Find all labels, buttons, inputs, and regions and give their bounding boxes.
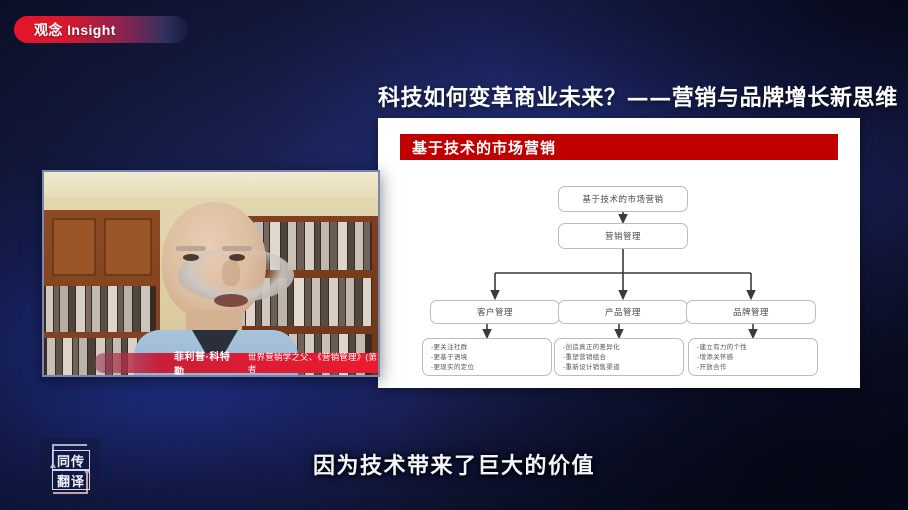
speaker-brow-right (222, 246, 252, 251)
flowchart: 基于技术的市场营销 营销管理 客户管理 产品管理 品牌管理 -更关注社群 -更基… (378, 118, 860, 388)
bullet: -开放合作 (697, 363, 817, 373)
speaker-brow-left (176, 246, 206, 251)
presentation-slide: 基于技术的市场营销 (378, 118, 860, 388)
flow-detail-customer: -更关注社群 -更基于语境 -更现实的定位 (422, 338, 552, 376)
speaker-subtitle: 世界营销学之父、《营销管理》(第16版) 作者 (240, 351, 380, 375)
flow-detail-product: -创造真正的差异化 -重塑营销组合 -重新设计销售渠道 (554, 338, 684, 376)
speaker-mouth (214, 294, 248, 307)
bullet: -更现实的定位 (431, 363, 551, 373)
flow-node-customer: 客户管理 (430, 300, 560, 324)
bullet: -更基于语境 (431, 353, 551, 363)
bullet: -重新设计销售渠道 (563, 363, 683, 373)
broadcast-screen: 观念 Insight 科技如何变革商业未来？——营销与品牌增长新思维 基于技术的… (0, 0, 908, 510)
bullet: -增添关怀感 (697, 353, 817, 363)
flow-node-product: 产品管理 (558, 300, 688, 324)
speaker-name: 菲利普·科特勒 (94, 348, 240, 377)
program-badge: 观念 Insight (14, 16, 188, 43)
page-title: 科技如何变革商业未来？——营销与品牌增长新思维 (378, 80, 878, 112)
flow-node-brand: 品牌管理 (686, 300, 816, 324)
bullet: -更关注社群 (431, 343, 551, 353)
speaker-eye-left (183, 254, 199, 261)
subtitle-caption: 因为技术带来了巨大的价值 (0, 448, 908, 480)
bullet: -创造真正的差异化 (563, 343, 683, 353)
speaker-nose (222, 260, 240, 286)
program-badge-label: 观念 Insight (14, 20, 116, 40)
bullet: -建立有力的个性 (697, 343, 817, 353)
flow-detail-brand: -建立有力的个性 -增添关怀感 -开放合作 (688, 338, 818, 376)
flow-node-second: 营销管理 (558, 223, 688, 249)
speaker-head (162, 202, 266, 320)
speaker-video-window[interactable]: 菲利普·科特勒 世界营销学之父、《营销管理》(第16版) 作者 (42, 170, 380, 377)
video-ceiling (44, 172, 378, 198)
flow-node-root: 基于技术的市场营销 (558, 186, 688, 212)
speaker-name-bar: 菲利普·科特勒 世界营销学之父、《营销管理》(第16版) 作者 (94, 353, 380, 373)
bullet: -重塑营销组合 (563, 353, 683, 363)
